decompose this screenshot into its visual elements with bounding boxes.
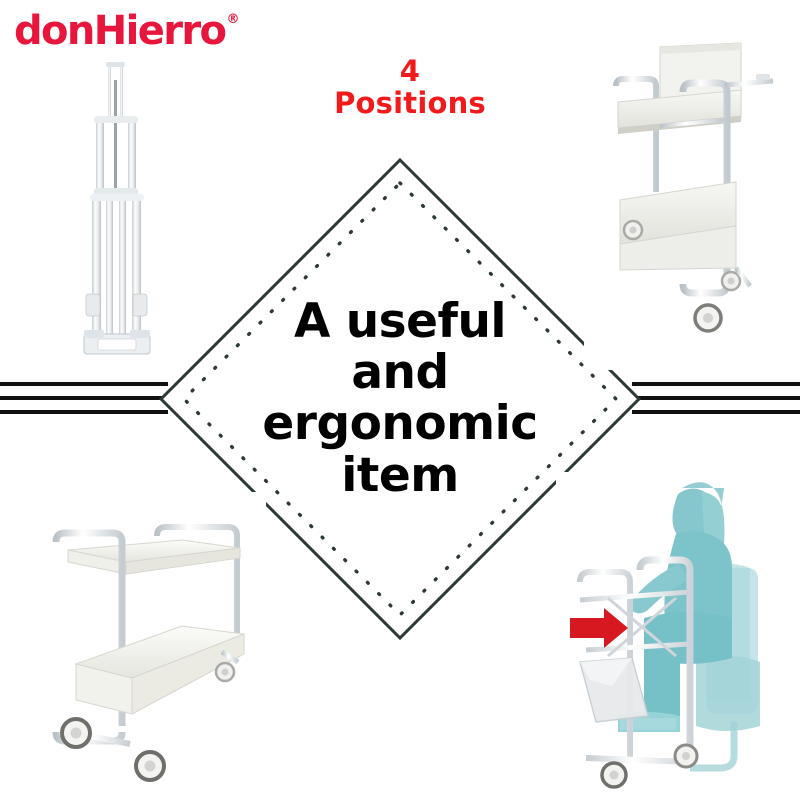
rule-line <box>632 382 800 386</box>
diamond-message-line-1: A useful <box>158 296 642 347</box>
rule-line <box>632 396 800 400</box>
rule-line <box>632 410 800 414</box>
diamond-message-line-2: and <box>158 347 642 398</box>
photo-cart-folded <box>62 58 172 364</box>
brand-name: donHierro <box>14 11 225 51</box>
headline-line-1: 4 <box>400 54 420 88</box>
rule-line <box>0 410 168 414</box>
triple-rule-right <box>632 382 800 415</box>
headline-positions: 4 Positions <box>250 55 570 120</box>
photo-cart-half-folded <box>584 30 796 370</box>
promo-canvas: donHierro ® 4 Positions A useful and erg… <box>0 0 800 800</box>
brand-logo: donHierro ® <box>14 11 239 51</box>
rule-line <box>0 396 168 400</box>
photo-cart-open <box>34 492 266 792</box>
photo-cart-in-use <box>556 472 800 794</box>
diamond-message: A useful and ergonomic item <box>158 296 642 501</box>
triple-rule-left <box>0 382 168 415</box>
registered-trademark-icon: ® <box>226 13 239 26</box>
diamond-message-line-3: ergonomic <box>158 398 642 449</box>
headline-line-2: Positions <box>334 86 486 120</box>
rule-line <box>0 382 168 386</box>
